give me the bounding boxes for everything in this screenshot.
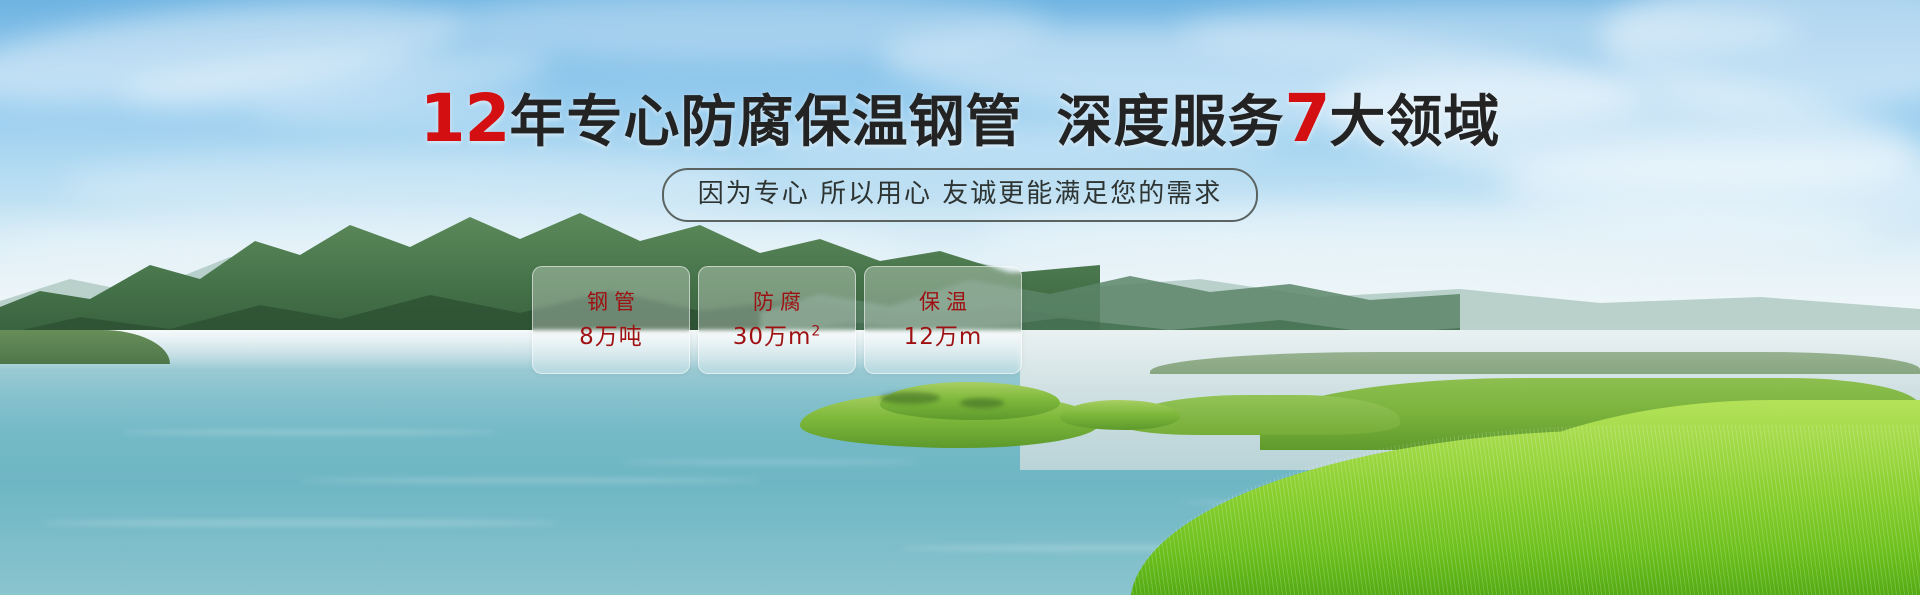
stat-card-caption: 保温: [913, 290, 973, 314]
headline-part-one: 年专心防腐保温钢管: [509, 90, 1022, 155]
banner-subtitle-container: 因为专心 所以用心 友诚更能满足您的需求: [0, 168, 1920, 222]
stat-card-steel-pipe[interactable]: 钢管 8万吨: [532, 266, 690, 374]
headline-part-two: 深度服务: [1056, 90, 1284, 155]
stat-card-caption: 防腐: [747, 290, 807, 314]
headline-fields-number: 7: [1284, 80, 1329, 157]
banner-headline: 12年专心防腐保温钢管深度服务7大领域: [0, 88, 1920, 154]
stat-card-value: 8万吨: [579, 324, 643, 350]
headline-part-three: 大领域: [1329, 90, 1500, 155]
headline-years-number: 12: [420, 80, 510, 157]
stat-card-value: 12万m: [904, 324, 983, 350]
stat-card-insulation[interactable]: 保温 12万m: [864, 266, 1022, 374]
stat-card-caption: 钢管: [581, 290, 641, 314]
stat-card-anticorrosion[interactable]: 防腐 30万m2: [698, 266, 856, 374]
stat-card-value: 30万m2: [733, 324, 822, 350]
stat-cards: 钢管 8万吨 防腐 30万m2 保温 12万m: [532, 266, 1022, 374]
hero-banner: 12年专心防腐保温钢管深度服务7大领域 因为专心 所以用心 友诚更能满足您的需求…: [0, 0, 1920, 595]
banner-subtitle-pill: 因为专心 所以用心 友诚更能满足您的需求: [662, 168, 1259, 222]
stat-card-unit-exponent: 2: [811, 323, 821, 339]
